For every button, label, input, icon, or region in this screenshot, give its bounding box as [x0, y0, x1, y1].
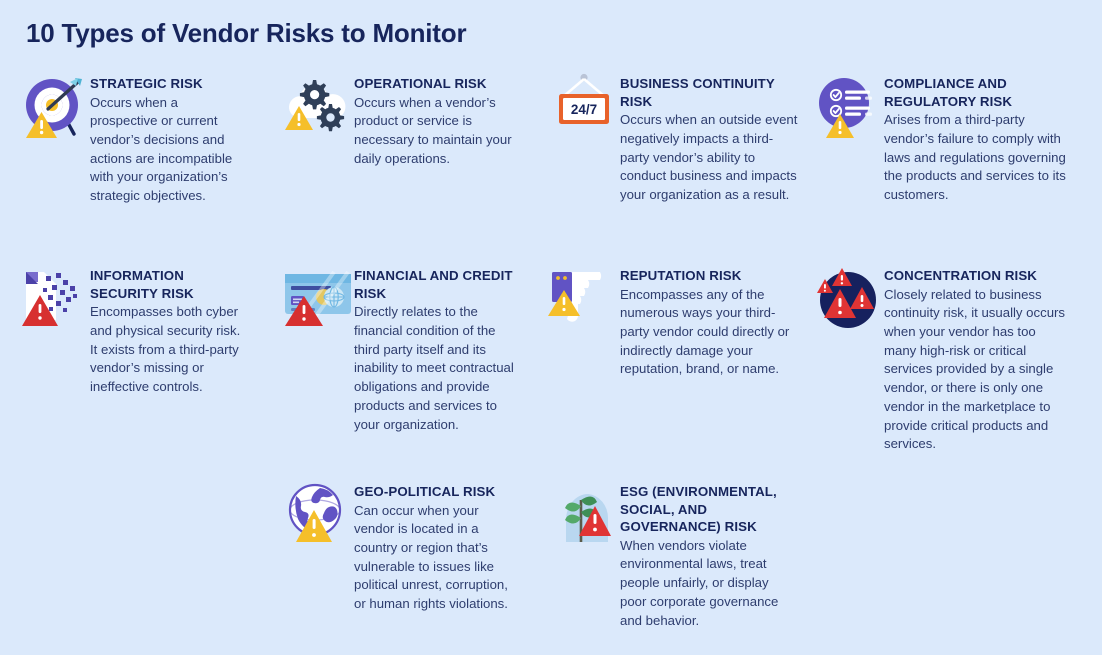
risk-body: Occurs when a prospective or current ven… [90, 94, 248, 206]
risk-card-financial-and-credit-risk: FINANCIAL AND CREDIT RISK Directly relat… [282, 262, 514, 434]
risk-card-operational-risk: OPERATIONAL RISK Occurs when a vendor’s … [282, 70, 514, 168]
thumbs-down-warning-icon [548, 264, 620, 336]
risk-heading: REPUTATION RISK [620, 267, 798, 285]
infographic-canvas: 10 Types of Vendor Risks to Monitor [0, 0, 1102, 655]
risk-heading: COMPLIANCE AND REGULATORY RISK [884, 75, 1070, 110]
risk-heading: BUSINESS CONTINUITY RISK [620, 75, 798, 110]
risk-card-geo-political-risk: GEO-POLITICAL RISK Can occur when your v… [282, 478, 514, 614]
risk-heading: INFORMATION SECURITY RISK [90, 267, 248, 302]
credit-card-globe-warning-icon [282, 264, 354, 336]
checklist-circle-warning-icon [812, 72, 884, 144]
risk-card-compliance-and-regulatory-risk: COMPLIANCE AND REGULATORY RISK Arises fr… [812, 70, 1070, 205]
risk-card-concentration-risk: CONCENTRATION RISK Closely related to bu… [812, 262, 1070, 454]
risk-body: Closely related to business continuity r… [884, 286, 1070, 455]
risk-body: Encompasses both cyber and physical secu… [90, 303, 248, 397]
risk-heading: GEO-POLITICAL RISK [354, 483, 514, 501]
risk-card-strategic-risk: STRATEGIC RISK Occurs when a prospective… [18, 70, 248, 206]
globe-warning-icon [282, 480, 354, 552]
risk-heading: STRATEGIC RISK [90, 75, 248, 93]
risk-heading: ESG (ENVIRONMENTAL, SOCIAL, AND GOVERNAN… [620, 483, 798, 536]
risk-body: Occurs when a vendor’s product or servic… [354, 94, 514, 169]
risk-body: When vendors violate environmental laws,… [620, 537, 798, 631]
risk-heading: OPERATIONAL RISK [354, 75, 514, 93]
risk-body: Arises from a third-party vendor’s failu… [884, 111, 1070, 205]
head-plant-warning-icon [548, 480, 620, 552]
target-arrow-warning-icon [18, 72, 90, 144]
risk-card-information-security-risk: INFORMATION SECURITY RISK Encompasses bo… [18, 262, 248, 397]
risk-card-esg-risk: ESG (ENVIRONMENTAL, SOCIAL, AND GOVERNAN… [548, 478, 798, 630]
risk-body: Encompasses any of the numerous ways you… [620, 286, 798, 380]
risk-card-business-continuity-risk: 24/7 BUSINESS CONTINUITY RISK Occurs whe… [548, 70, 798, 205]
sign-label: 24/7 [571, 102, 597, 117]
risk-body: Occurs when an outside event negatively … [620, 111, 798, 205]
circle-multiple-warnings-icon [812, 264, 884, 336]
risk-heading: FINANCIAL AND CREDIT RISK [354, 267, 514, 302]
hanging-sign-24-7-icon: 24/7 [548, 72, 620, 144]
page-title: 10 Types of Vendor Risks to Monitor [26, 18, 466, 49]
risk-body: Can occur when your vendor is located in… [354, 502, 514, 614]
document-pixels-warning-icon [18, 264, 90, 336]
cloud-gears-warning-icon [282, 72, 354, 144]
risk-body: Directly relates to the financial condit… [354, 303, 514, 434]
risk-card-reputation-risk: REPUTATION RISK Encompasses any of the n… [548, 262, 798, 379]
risk-heading: CONCENTRATION RISK [884, 267, 1070, 285]
